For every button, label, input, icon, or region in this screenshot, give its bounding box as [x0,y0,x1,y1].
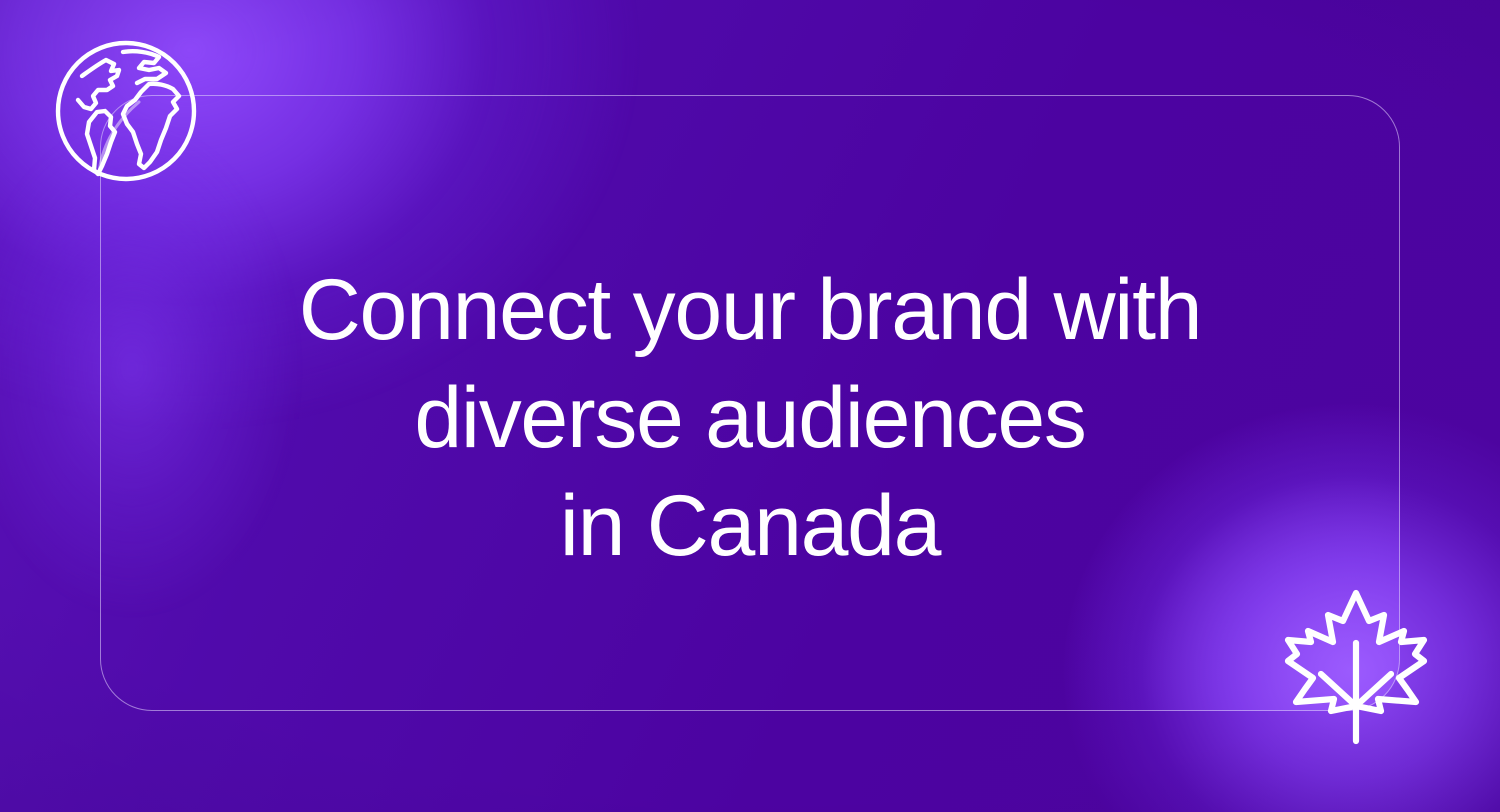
slide-canvas: Connect your brand with diverse audience… [0,0,1500,812]
headline-line-2: diverse audiences [414,364,1085,472]
headline-line-3: in Canada [560,472,940,580]
headline-line-1: Connect your brand with [299,256,1202,364]
headline-block: Connect your brand with diverse audience… [0,0,1500,812]
